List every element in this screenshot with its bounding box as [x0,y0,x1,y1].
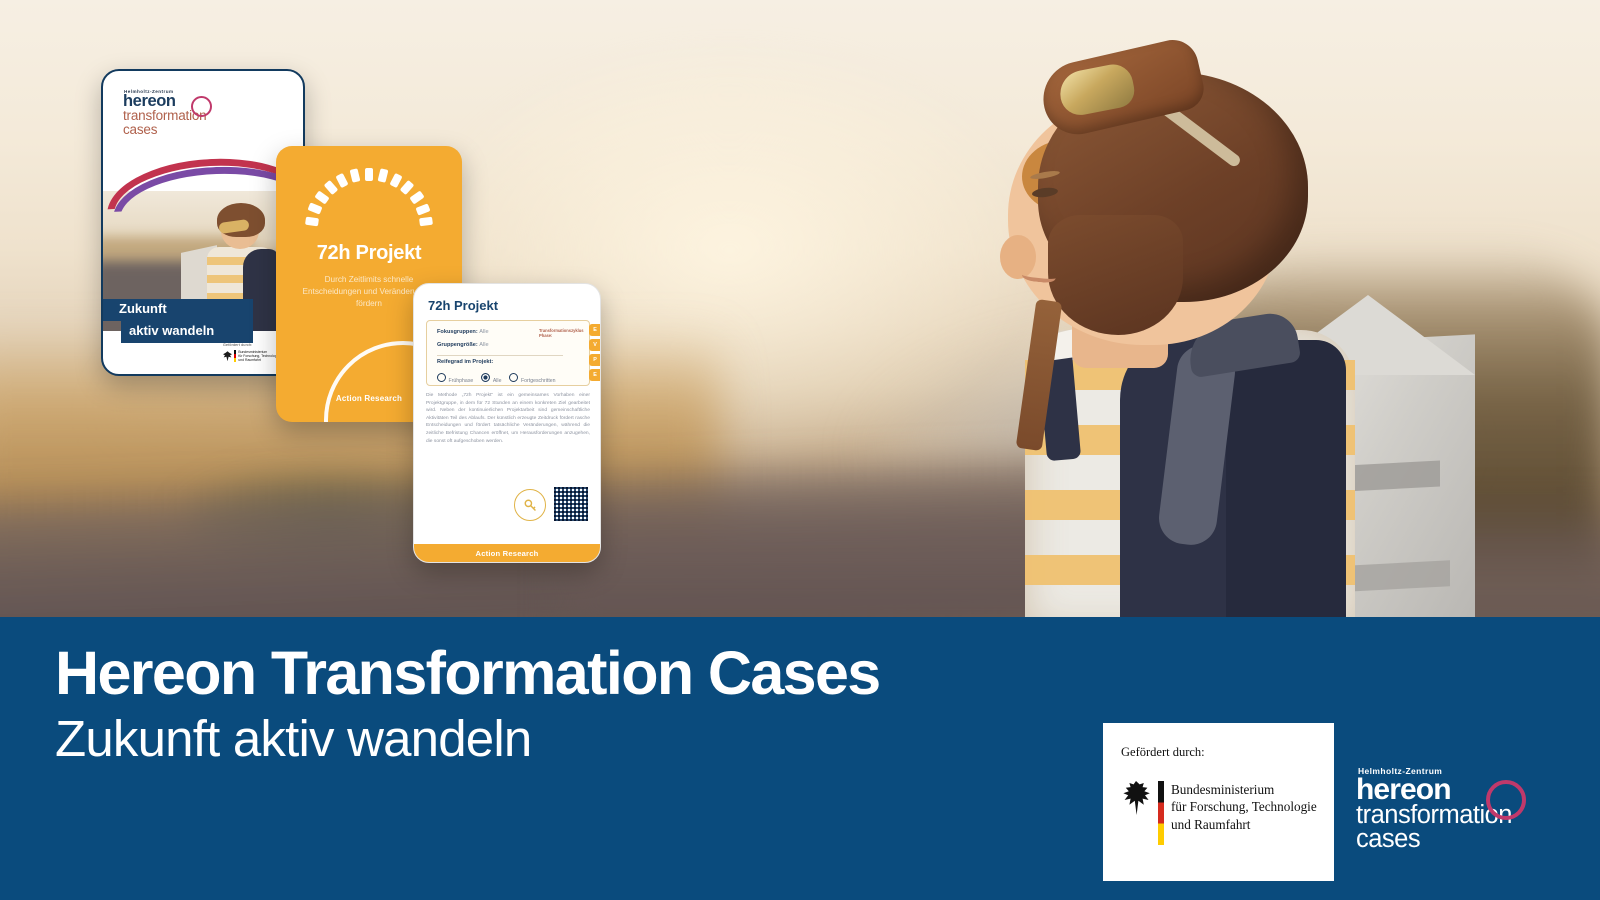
key-icon[interactable] [514,489,546,521]
hereon-logo: Helmholtz-Zentrum hereon transformation … [1356,766,1556,852]
divider [437,355,563,356]
level-option-2[interactable]: Fortgeschritten [509,369,555,387]
sun-ray [350,168,361,183]
level-options[interactable]: Frühphase Alle Fortgeschritten [437,369,556,387]
sun-ray [377,168,388,183]
sun-ray [336,172,349,187]
radio-icon[interactable] [509,373,518,382]
federal-eagle-icon [223,351,232,361]
card-method-back-title: 72h Projekt [428,298,498,313]
field-gruppengroesse-label: Gruppengröße: [437,342,478,348]
sun-ray [324,180,339,195]
sun-ray [314,190,329,204]
sun-ray [305,217,319,227]
card-method-back-meta-box: Fokusgruppen: Alle Gruppengröße: Alle Tr… [426,320,590,386]
boy-arm-far [1226,340,1346,620]
card-cover-band-text-1: Zukunft [119,301,167,316]
federal-eagle-icon [1121,781,1151,815]
hereon-ring-icon [191,96,212,117]
card-method-back-body: Die Methode „72h Projekt“ ist ein gemein… [426,392,590,445]
radio-icon[interactable] [437,373,446,382]
phase-tab-0[interactable]: E [589,324,601,336]
phase-tab-3[interactable]: E [589,369,601,381]
hereon-ring-icon [1486,780,1526,820]
card-cover-logo: Helmholtz-Zentrum hereon transformation … [123,89,273,137]
card-cover-band-text-2: aktiv wandeln [129,323,214,338]
field-fokusgruppen-label: Fokusgruppen: [437,329,478,335]
hereon-wordmark-line2: transformation [1356,803,1556,827]
german-flag-icon [1158,781,1164,845]
card-cover[interactable]: Helmholtz-Zentrum hereon transformation … [101,69,305,376]
phase-tab-1[interactable]: V [589,339,601,351]
funding-kicker: Gefördert durch: [1121,745,1205,760]
qr-code-icon[interactable] [554,487,588,521]
card-method-front-title: 72h Projekt [276,242,462,265]
page-subtitle: Zukunft aktiv wandeln [55,713,531,764]
card-cover-funding-text: Bundesministerium für Forschung, Technol… [238,350,279,362]
radio-icon-selected[interactable] [481,373,490,382]
poster-root: Helmholtz-Zentrum hereon transformation … [0,0,1600,900]
sun-ray [409,190,424,204]
level-option-1[interactable]: Alle [481,369,501,387]
phase-tabs[interactable]: E V P E [589,324,601,381]
page-title: Hereon Transformation Cases [55,643,880,704]
sun-ray [420,217,434,227]
german-flag-icon [234,350,236,362]
ministry-name: Bundesministerium für Forschung, Technol… [1171,781,1317,833]
field-fokusgruppen-value: Alle [479,329,488,335]
hereon-wordmark-line3: cases [1356,827,1556,851]
card-method-back-footer: Action Research [414,544,600,562]
level-option-2-label: Fortgeschritten [521,378,556,384]
field-gruppengroesse: Gruppengröße: Alle [437,342,489,348]
title-banner: Hereon Transformation Cases Zukunft akti… [0,617,1600,900]
phase-tab-2[interactable]: P [589,354,601,366]
hereon-wordmark: hereon [1356,776,1556,803]
field-gruppengroesse-value: Alle [479,342,488,348]
phase-label: Transformationszyklus Phase: [539,328,595,339]
level-option-0-label: Frühphase [449,378,474,384]
boy-figure [930,0,1600,620]
level-label: Reifegrad im Projekt: [437,359,493,365]
field-fokusgruppen: Fokusgruppen: Alle [437,329,489,335]
goggle-lens [1056,61,1137,118]
level-option-1-label: Alle [493,378,502,384]
sun-ray [365,167,373,180]
sun-ray [389,173,402,188]
sun-ray [416,203,431,215]
sun-ray [308,203,323,215]
hereon-wordmark-line3: cases [123,123,273,137]
sun-ray [400,180,415,195]
card-method-back[interactable]: 72h Projekt Fokusgruppen: Alle Gruppengr… [413,283,601,563]
funding-logo: Gefördert durch: Bundesministerium für F… [1103,723,1334,881]
cap-ear-flap [1048,215,1183,335]
level-option-0[interactable]: Frühphase [437,369,473,387]
